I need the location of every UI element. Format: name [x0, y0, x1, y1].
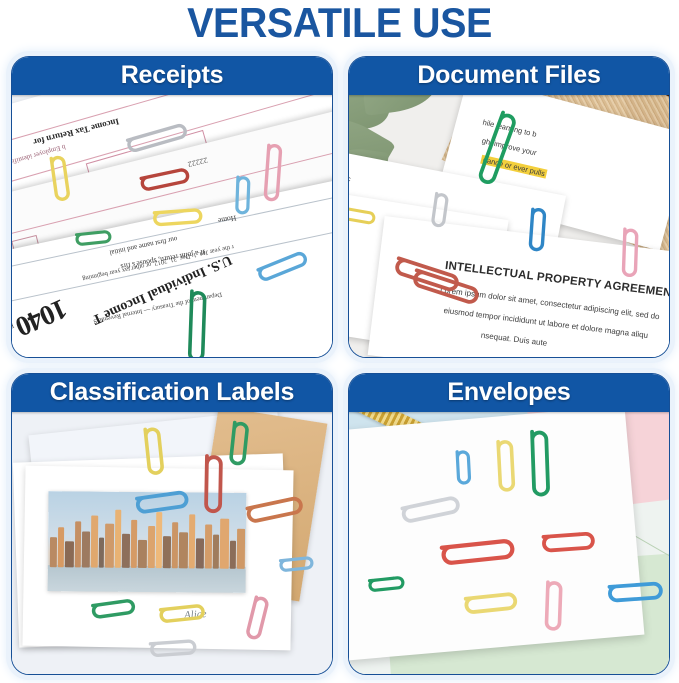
panel-classification-labels[interactable]: Alice	[11, 373, 333, 675]
paperclip-group	[349, 412, 669, 674]
paperclip-blue	[258, 252, 307, 281]
paperclip-blue	[530, 209, 545, 250]
paperclip-yellow	[154, 210, 201, 225]
paperclip-red	[442, 540, 513, 563]
panel-grid: b Employer identification number a Emplo…	[0, 48, 679, 683]
paperclip-pink	[623, 229, 637, 275]
paperclip-yellow	[145, 428, 163, 474]
paperclip-silver	[432, 194, 447, 227]
envelopes-photo	[349, 412, 669, 674]
panel-envelopes[interactable]: Envelopes	[348, 373, 670, 675]
panel-receipts[interactable]: b Employer identification number a Emplo…	[11, 56, 333, 358]
paperclip-pink	[247, 597, 268, 639]
paperclip-group	[12, 95, 332, 357]
paperclip-green	[479, 113, 516, 185]
paperclip-green	[370, 577, 404, 590]
paperclip-red	[141, 169, 188, 190]
paperclip-group	[349, 95, 669, 357]
paperclip-yellow	[161, 605, 204, 621]
panel-header-receipts: Receipts	[11, 56, 333, 95]
paperclip-red	[206, 456, 221, 511]
panel-title: Document Files	[417, 61, 600, 90]
paperclip-blue	[457, 451, 470, 483]
panel-header-envelopes: Envelopes	[348, 373, 670, 412]
paperclip-pink	[265, 145, 281, 200]
paperclip-darkgreen	[190, 291, 205, 357]
paperclip-green	[532, 431, 548, 494]
paperclip-yellow	[349, 208, 375, 223]
panel-title: Receipts	[121, 61, 224, 90]
paperclip-blue	[609, 583, 661, 601]
paperclip-silver	[402, 497, 459, 522]
paperclip-group	[12, 412, 332, 674]
classification-labels-photo: Alice	[12, 412, 332, 674]
paperclip-green	[231, 423, 248, 465]
receipts-photo: b Employer identification number a Emplo…	[12, 95, 332, 357]
paperclip-lightblue	[237, 177, 249, 213]
paperclip-pink	[546, 582, 561, 629]
panel-title: Classification Labels	[50, 378, 295, 407]
paperclip-green	[93, 600, 134, 617]
page-title: VERSATILE USE	[20, 1, 658, 47]
paperclip-lightblue	[281, 558, 313, 571]
panel-header-classification-labels: Classification Labels	[11, 373, 333, 412]
paperclip-yellow	[466, 594, 516, 613]
document-files-photo: hile learning to b gh, improve your danc…	[349, 95, 669, 357]
paperclip-silver	[128, 124, 187, 152]
paperclip-yellow	[51, 157, 69, 200]
paperclip-blue	[137, 492, 187, 513]
paperclip-green	[77, 231, 111, 244]
paperclip-silver	[150, 641, 195, 656]
panel-document-files[interactable]: hile learning to b gh, improve your danc…	[348, 56, 670, 358]
paperclip-yellow	[498, 441, 514, 490]
panel-header-document-files: Document Files	[348, 56, 670, 95]
paperclip-red	[543, 533, 593, 550]
paperclip-orange	[247, 497, 302, 522]
panel-title: Envelopes	[447, 378, 570, 407]
